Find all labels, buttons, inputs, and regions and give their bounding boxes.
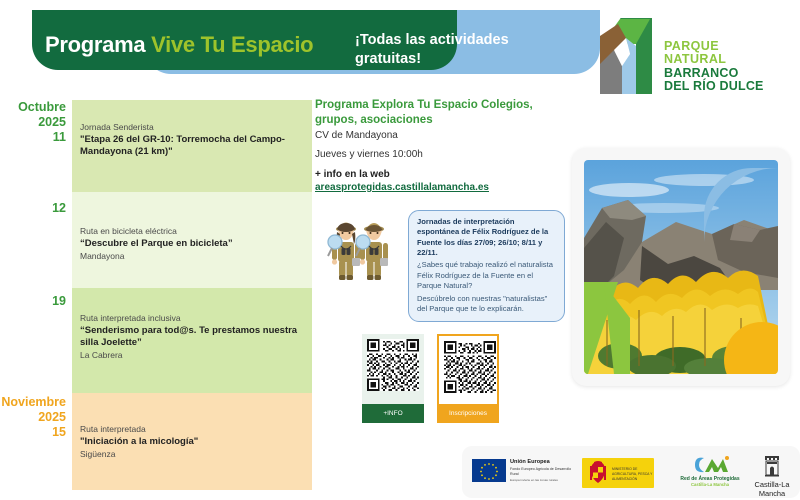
event-item: Ruta interpretada inclusiva “Senderismo … [80,313,308,361]
schedule-band: Ruta en bicicleta eléctrica “Descubre el… [72,192,312,288]
castle-icon [761,454,783,478]
event-item: Ruta interpretada "Iniciación a la micol… [80,424,308,459]
header-banner: Programa Vive Tu Espacio ¡Todas las acti… [0,10,600,74]
eu-logo-line-1: Unión Europea [510,459,580,465]
ministerio-logo: MINISTERIO DE AGRICULTURA, PESCA Y ALIME… [582,458,654,488]
union-europea-logo: Unión Europea Fondo Europeo Agrícola de … [472,459,580,487]
qr-info-label: +INFO [362,404,424,423]
castilla-la-mancha-logo: Castilla-La Mancha [750,454,794,498]
castilla-la-mancha-text: Castilla-La Mancha [750,480,794,498]
schedule-band: Ruta interpretada "Iniciación a la micol… [72,393,312,490]
event-title: “Senderismo para tod@s. Te prestamos nue… [80,325,308,349]
qr-info-icon [367,339,419,391]
qr-info-frame [362,334,424,404]
explora-web-link[interactable]: areasprotegidas.castillalamancha.es [315,182,570,193]
day-number: 19 [0,294,66,309]
explora-heading: Programa Explora Tu Espacio Colegios, gr… [315,98,570,127]
ministerio-text: MINISTERIO DE AGRICULTURA, PESCA Y ALIME… [612,467,654,481]
date-label-october: Octubre 2025 11 [0,100,66,144]
day-number: 11 [0,130,66,145]
red-areas-protegidas-logo: Red de Áreas Protegidas Castilla-La Manc… [674,455,746,487]
date-label-november: Noviembre 2025 15 [0,395,66,439]
month-name: Octubre [0,100,66,115]
eu-logo-line-3: Europa invierte en las zonas rurales [510,478,580,482]
explora-section: Programa Explora Tu Espacio Colegios, gr… [315,98,570,193]
park-photo [584,160,778,374]
day-number: 15 [0,425,66,440]
naturalist-rangers-illustration [316,212,402,292]
event-kind: Ruta en bicicleta eléctrica [80,226,308,237]
park-logo-text: PARQUE NATURAL BARRANCO DEL RÍO DULCE [664,40,764,93]
logo-line-4: DEL RÍO DULCE [664,80,764,93]
ministerio-flag-panel: MINISTERIO DE AGRICULTURA, PESCA Y ALIME… [582,458,654,488]
park-logo-icon [592,14,660,98]
felix-rodriguez-callout: Jornadas de interpretación espontánea de… [408,210,565,322]
event-title: "Etapa 26 del GR-10: Torremocha del Camp… [80,134,308,158]
event-title: “Descubre el Parque en bicicleta” [80,238,308,250]
event-title: "Iniciación a la micología" [80,436,308,448]
event-place: Mandayona [80,251,308,262]
qr-inscripciones-label: Inscripciones [437,404,499,423]
event-item: Ruta en bicicleta eléctrica “Descubre el… [80,226,308,261]
cam-monogram-icon [690,455,730,475]
eu-stars-icon [472,459,506,482]
qr-inscripciones-icon [444,341,496,393]
callout-body-line-2: Descúbrelo con nuestras "naturalistas" d… [417,294,557,315]
page-title-plain: Programa [45,32,145,57]
logo-line-1: PARQUE [664,40,764,53]
schedule-band: Jornada Senderista "Etapa 26 del GR-10: … [72,100,312,192]
event-place: Sigüenza [80,449,308,460]
footer-logo-strip: Unión Europea Fondo Europeo Agrícola de … [462,446,800,498]
event-kind: Ruta interpretada [80,424,308,435]
day-number: 12 [0,201,66,216]
event-item: Jornada Senderista "Etapa 26 del GR-10: … [80,122,308,159]
date-label-19: 19 [0,294,66,309]
header-subtitle: ¡Todas las actividades gratuitas! [355,31,545,69]
photo-card [572,148,790,386]
schedule-band: Ruta interpretada inclusiva “Senderismo … [72,288,312,393]
qr-info[interactable]: +INFO [362,334,424,423]
poster-root: Programa Vive Tu Espacio ¡Todas las acti… [0,0,800,500]
park-photo-image [584,160,778,374]
eu-logo-line-2: Fondo Europeo Agrícola de Desarrollo Rur… [510,467,580,476]
explora-subheading: CV de Mandayona [315,130,570,141]
logo-line-3: BARRANCO [664,67,764,80]
qr-inscripciones-frame [437,334,499,404]
date-label-12: 12 [0,201,66,216]
event-place: La Cabrera [80,350,308,361]
month-year: 2025 [0,410,66,425]
explora-schedule-time: Jueves y viernes 10:00h [315,149,570,160]
ranger-figures-icon [316,212,402,292]
explora-info-label: + info en la web [315,168,570,182]
month-name: Noviembre [0,395,66,410]
red-areas-line-2: Castilla-La Mancha [674,482,746,487]
callout-body-line-1: ¿Sabes qué trabajo realizó el naturalist… [417,260,557,291]
page-title-accent: Vive Tu Espacio [151,32,313,57]
event-kind: Jornada Senderista [80,122,308,133]
qr-inscripciones[interactable]: Inscripciones [437,334,499,423]
eu-flag-icon [472,459,506,482]
month-year: 2025 [0,115,66,130]
spain-coat-of-arms-icon [585,460,611,486]
page-title: Programa Vive Tu Espacio [45,32,313,58]
event-kind: Ruta interpretada inclusiva [80,313,308,324]
logo-line-2: NATURAL [664,53,764,66]
eu-logo-text: Unión Europea Fondo Europeo Agrícola de … [510,459,580,482]
callout-bold-text: Jornadas de interpretación espontánea de… [417,217,557,258]
park-logo: PARQUE NATURAL BARRANCO DEL RÍO DULCE [592,14,792,106]
schedule-list: Jornada Senderista "Etapa 26 del GR-10: … [0,98,312,458]
